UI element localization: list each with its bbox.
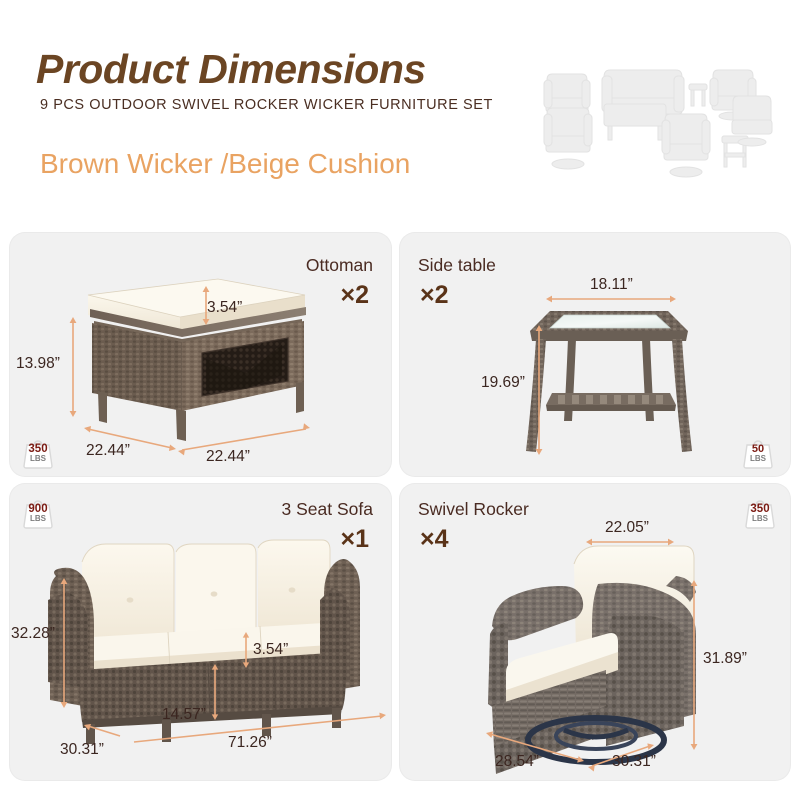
page-subtitle: 9 PCS OUTDOOR SWIVEL ROCKER WICKER FURNI… (40, 97, 493, 113)
dim-ottoman-cushion-thickness: 3.54” (207, 299, 242, 317)
dim-sidetable-width: 18.11” (590, 276, 633, 294)
dim-ottoman-height: 13.98” (16, 355, 60, 373)
sidetable-illustration (400, 233, 790, 476)
card-rocker[interactable]: Swivel Rocker ×4 350 LBS (400, 484, 790, 780)
dim-sofa-width: 71.26” (228, 734, 272, 752)
dim-rocker-depth: 28.54” (495, 753, 539, 771)
card-sofa[interactable]: 3 Seat Sofa ×1 900 LBS (10, 484, 391, 780)
dim-sidetable-height: 19.69” (481, 374, 525, 392)
dim-sofa-cushion-thickness: 3.54” (253, 641, 288, 659)
rocker-illustration (400, 484, 790, 780)
dim-rocker-height: 31.89” (703, 650, 747, 668)
dim-ottoman-depth: 22.44” (86, 442, 130, 460)
dim-sofa-back-height: 32.28” (11, 625, 55, 643)
ottoman-illustration (10, 233, 391, 476)
sofa-illustration (10, 484, 391, 780)
card-sidetable[interactable]: Side table ×2 50 LBS (400, 233, 790, 476)
page-title: Product Dimensions (36, 46, 426, 93)
card-ottoman[interactable]: Ottoman ×2 350 LBS (10, 233, 391, 476)
furniture-set-thumbnail-icon (532, 48, 782, 193)
dim-sofa-seat-height: 14.57” (162, 706, 206, 724)
product-dimensions-infographic: Product Dimensions 9 PCS OUTDOOR SWIVEL … (0, 0, 800, 800)
dim-sofa-depth: 30.31” (60, 741, 104, 759)
header: Product Dimensions 9 PCS OUTDOOR SWIVEL … (0, 0, 800, 215)
color-variant-label: Brown Wicker /Beige Cushion (40, 148, 410, 180)
dim-rocker-width: 22.05” (605, 519, 649, 537)
dim-ottoman-width: 22.44” (206, 448, 250, 466)
dim-rocker-side: 30.31” (612, 753, 656, 771)
